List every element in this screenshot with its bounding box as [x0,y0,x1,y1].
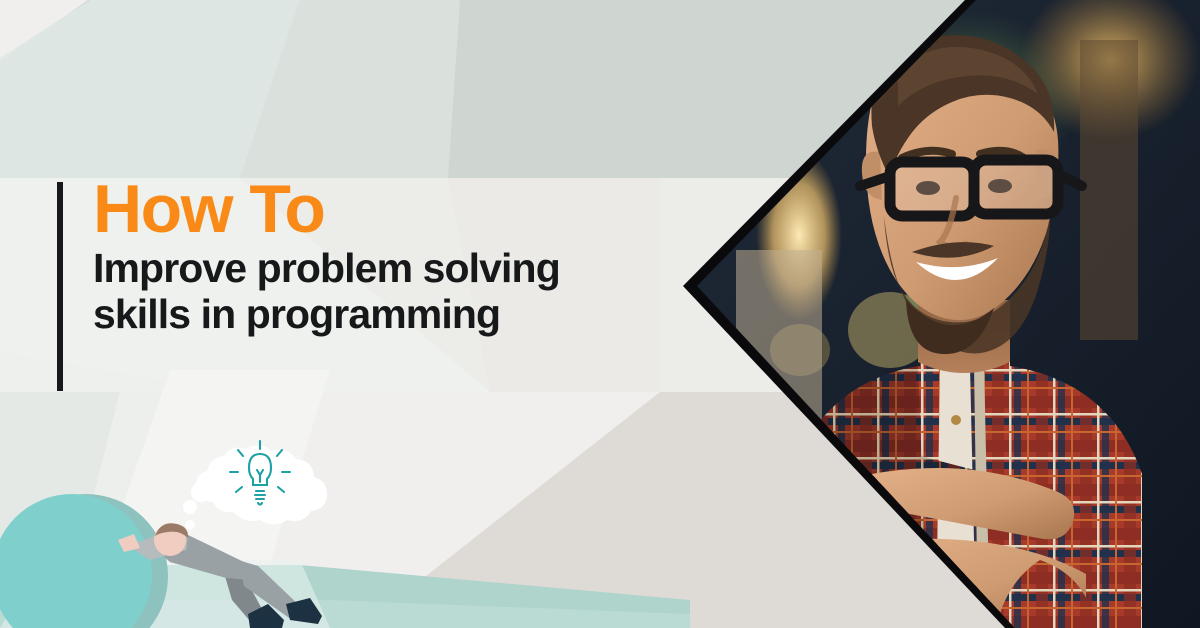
thought-dot-mid [183,500,197,514]
headline-block: How To Improve problem solving skills in… [57,178,677,393]
headline-text-lines: How To Improve problem solving skills in… [63,178,560,393]
photo-bg-frame [1080,40,1138,340]
shirt-button-1 [951,415,961,425]
glasses-icon [860,160,1082,216]
banner-canvas: How To Improve problem solving skills in… [0,0,1200,628]
thought-dot-small [185,520,195,530]
kicker-how-to: How To [93,178,560,242]
headline-line-1: Improve problem solving [93,246,560,292]
headline-line-2: skills in programming [93,292,560,338]
